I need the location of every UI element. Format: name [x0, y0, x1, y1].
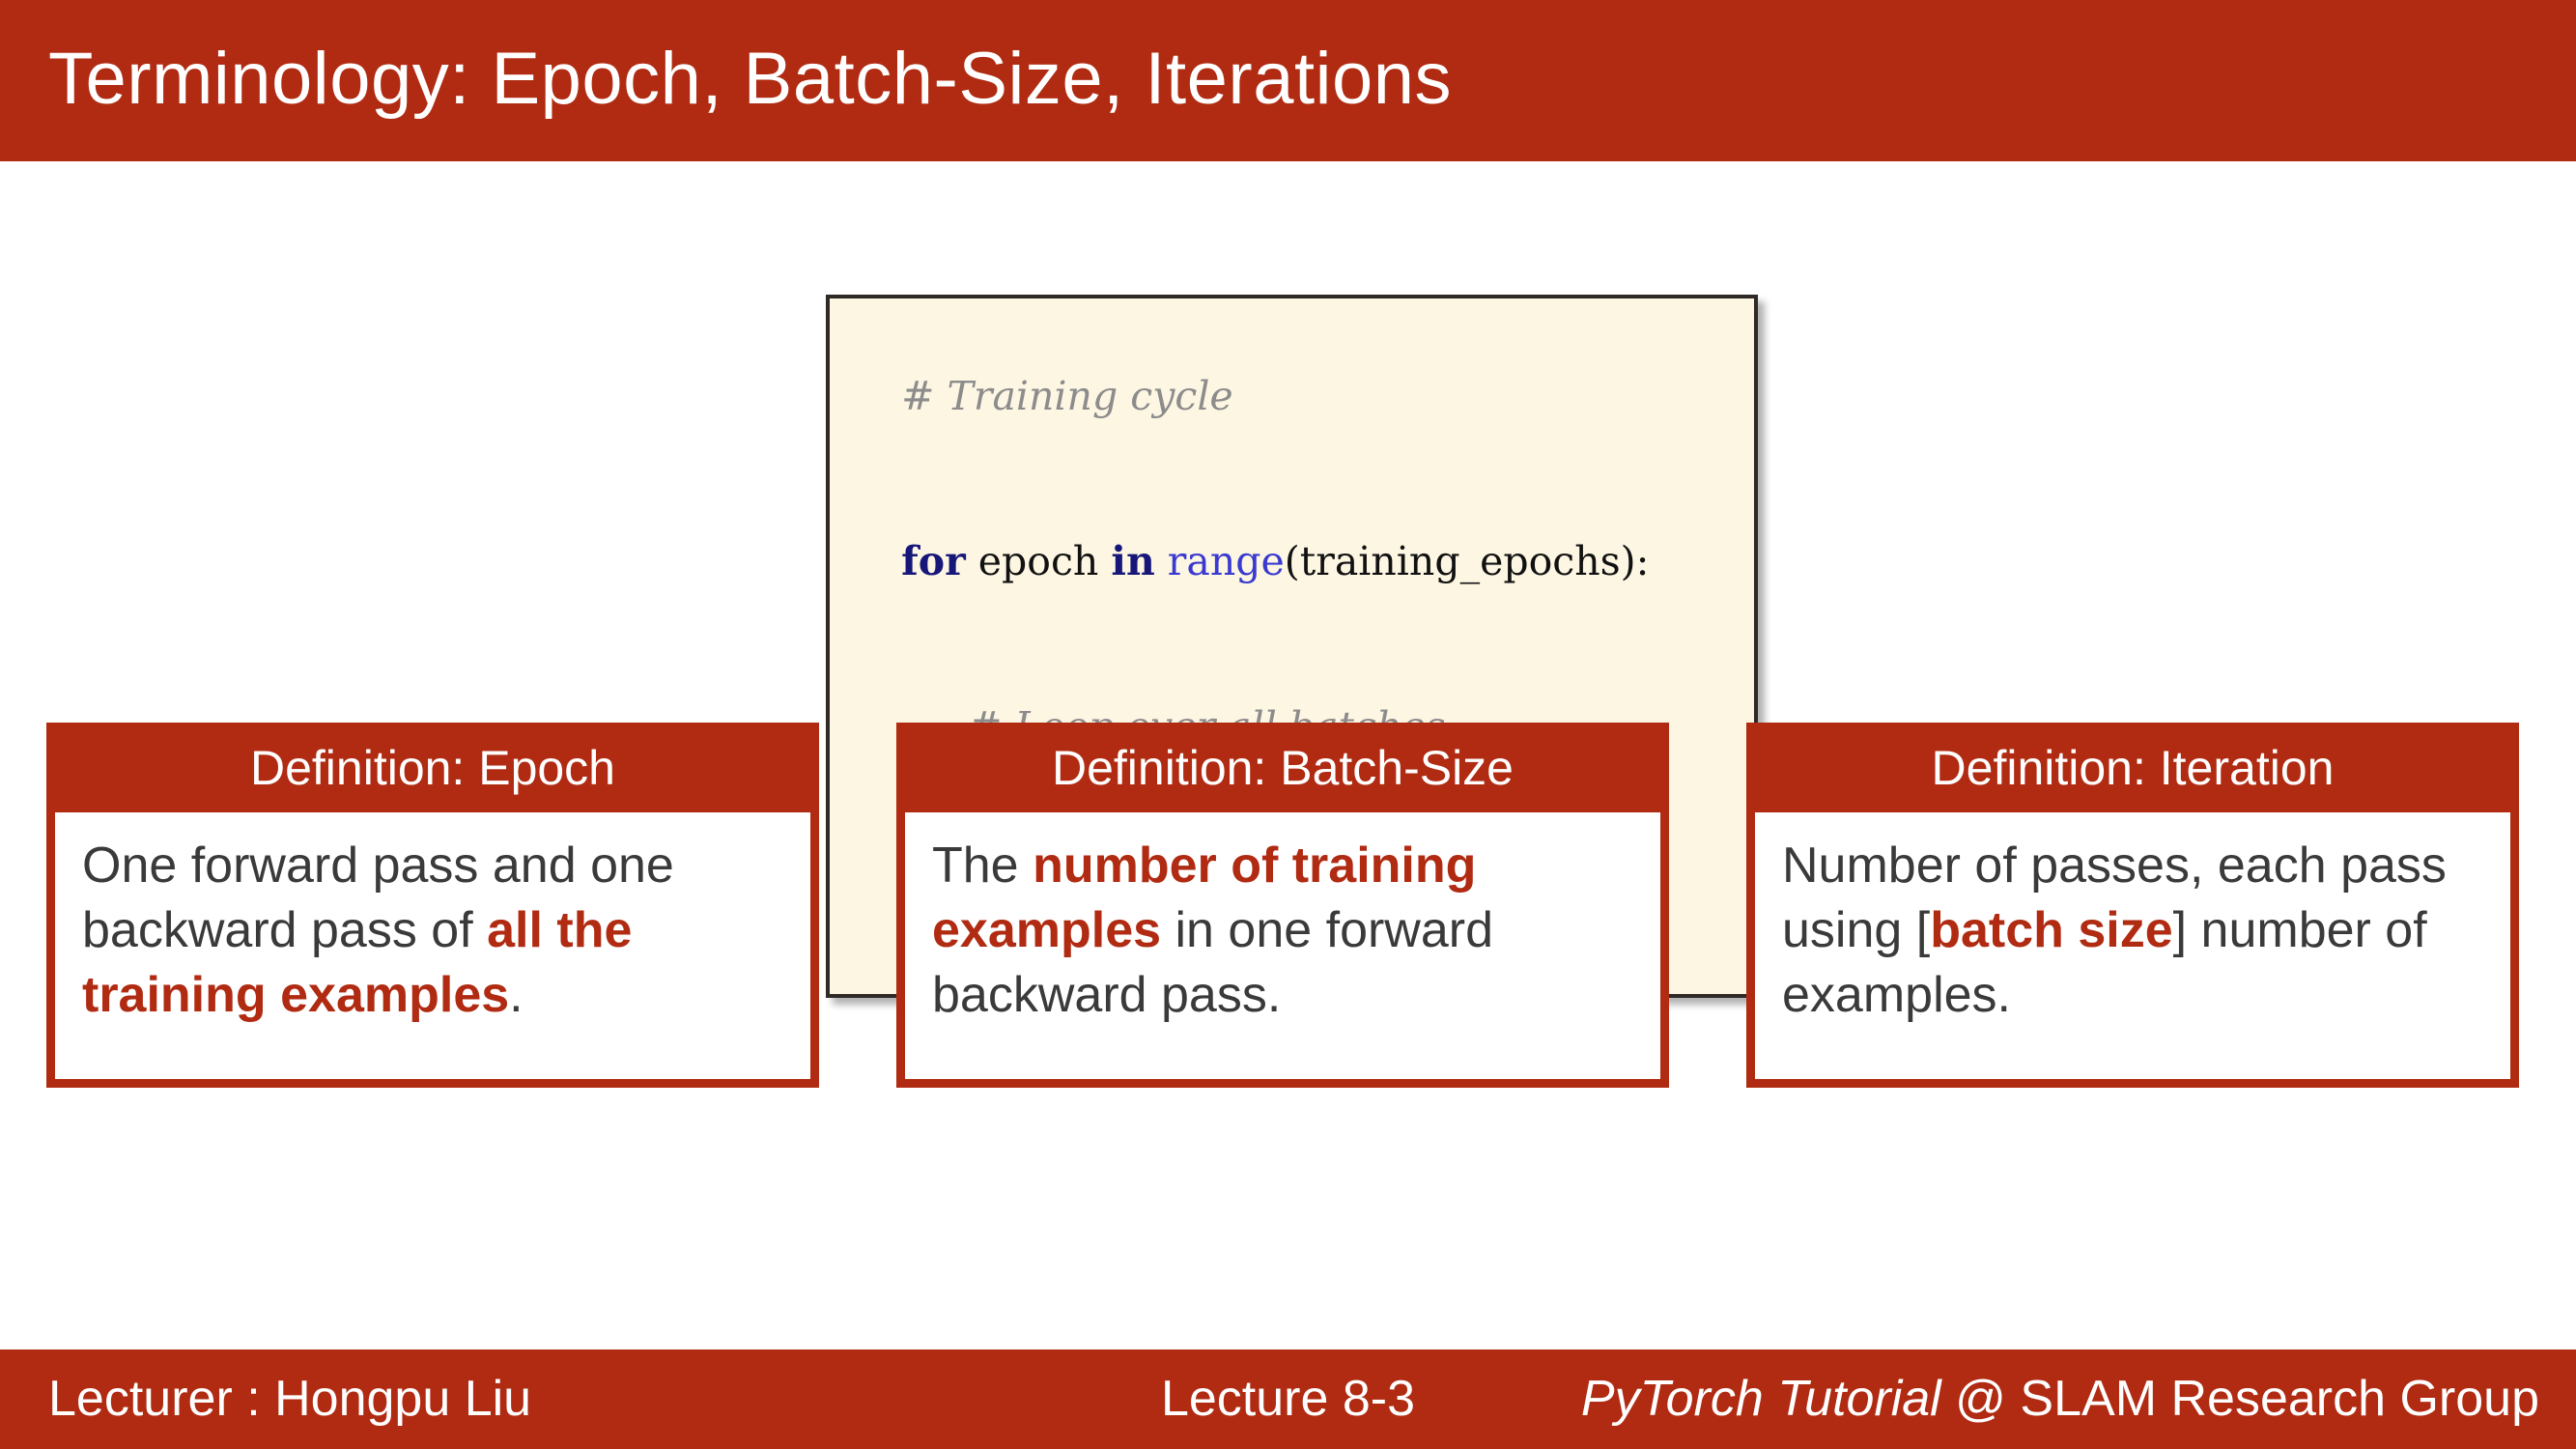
definition-card-epoch-body: One forward pass and one backward pass o… — [55, 812, 810, 1079]
definition-card-iteration: Definition: Iteration Number of passes, … — [1746, 723, 2519, 1088]
definition-text-plain-2a: The — [932, 838, 1033, 894]
code-args-training-epochs: (training_epochs): — [1285, 538, 1650, 584]
definition-text-plain-1b: . — [509, 967, 523, 1023]
footer-attribution-italic: PyTorch Tutorial — [1581, 1371, 1941, 1427]
footer-attribution: PyTorch Tutorial @ SLAM Research Group — [1581, 1350, 2539, 1449]
definition-text-highlight-3: batch size — [1930, 902, 2172, 958]
definition-card-epoch: Definition: Epoch One forward pass and o… — [46, 723, 819, 1088]
code-keyword-for: for — [901, 538, 966, 584]
definition-card-batch-size: Definition: Batch-Size The number of tra… — [896, 723, 1669, 1088]
code-line-2: for epoch in range(training_epochs): — [851, 479, 1733, 644]
footer-attribution-plain: @ SLAM Research Group — [1941, 1371, 2539, 1427]
definition-card-batch-size-text: The number of training examples in one f… — [932, 834, 1633, 1028]
slide-footer-bar: Lecturer : Hongpu Liu Lecture 8-3 PyTorc… — [0, 1350, 2576, 1449]
code-line-1: # Training cycle — [851, 314, 1733, 479]
definition-card-batch-size-heading: Definition: Batch-Size — [896, 723, 1669, 812]
definition-card-epoch-heading: Definition: Epoch — [46, 723, 819, 812]
definition-card-iteration-text: Number of passes, each pass using [batch… — [1782, 834, 2483, 1028]
page-title: Terminology: Epoch, Batch-Size, Iteratio… — [48, 21, 1452, 137]
code-keyword-in: in — [1111, 538, 1154, 584]
slide-header-bar: Terminology: Epoch, Batch-Size, Iteratio… — [0, 0, 2576, 161]
code-function-range: range — [1155, 538, 1285, 584]
code-identifier-epoch: epoch — [966, 538, 1112, 584]
definition-card-epoch-text: One forward pass and one backward pass o… — [82, 834, 783, 1028]
code-comment-training-cycle: # Training cycle — [901, 373, 1233, 419]
definition-card-iteration-body: Number of passes, each pass using [batch… — [1755, 812, 2510, 1079]
definition-card-iteration-heading: Definition: Iteration — [1746, 723, 2519, 812]
definition-card-batch-size-body: The number of training examples in one f… — [905, 812, 1660, 1079]
